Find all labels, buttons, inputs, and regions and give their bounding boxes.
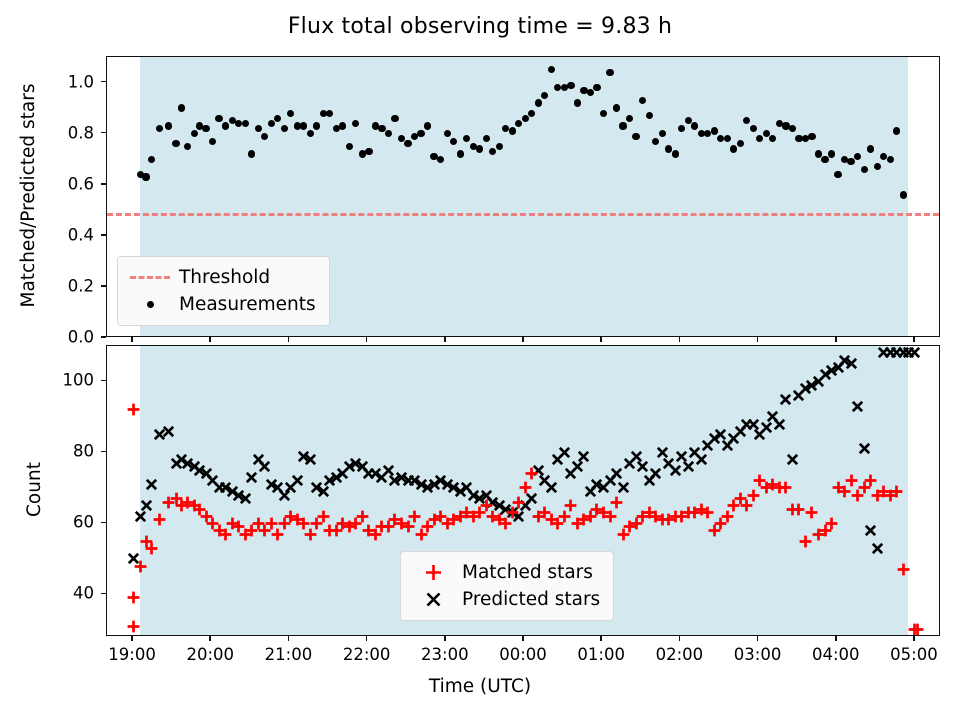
y-tick-label: 0.8 xyxy=(14,123,94,142)
data-point-marker xyxy=(535,99,542,106)
data-point-marker xyxy=(900,191,907,198)
cross-marker xyxy=(773,418,786,431)
cross-marker xyxy=(245,471,258,484)
plus-marker xyxy=(525,467,538,480)
plus-marker xyxy=(145,542,158,555)
data-point-marker xyxy=(834,171,841,178)
data-point-marker xyxy=(509,127,516,134)
plus-marker xyxy=(134,560,147,573)
top-panel-legend: Threshold Measurements xyxy=(117,256,330,326)
legend-label-threshold: Threshold xyxy=(173,267,270,288)
legend-label-predicted-stars: Predicted stars xyxy=(456,589,600,610)
cross-marker xyxy=(577,450,590,463)
x-tick-mark xyxy=(209,337,211,342)
cross-marker xyxy=(779,393,792,406)
data-point-marker xyxy=(261,133,268,140)
cross-marker xyxy=(558,446,571,459)
data-point-marker xyxy=(600,110,607,117)
data-point-marker xyxy=(417,130,424,137)
x-tick-label: 20:00 xyxy=(186,645,234,664)
data-point-marker xyxy=(711,127,718,134)
plus-marker xyxy=(845,474,858,487)
data-point-marker xyxy=(242,120,249,127)
y-tick-mark xyxy=(101,522,106,524)
cross-marker xyxy=(649,467,662,480)
data-point-marker xyxy=(567,82,574,89)
cross-marker xyxy=(145,478,158,491)
data-point-marker xyxy=(659,130,666,137)
data-point-marker xyxy=(887,156,894,163)
data-point-marker xyxy=(346,143,353,150)
data-point-marker xyxy=(156,125,163,132)
data-point-marker xyxy=(593,84,600,91)
bottom-panel-legend: Matched stars Predicted stars xyxy=(400,551,614,621)
x-tick-mark xyxy=(131,337,133,342)
data-point-marker xyxy=(281,125,288,132)
x-tick-mark xyxy=(288,636,290,641)
dashed-line-key xyxy=(127,268,173,288)
plus-marker-key xyxy=(410,563,456,583)
data-point-marker xyxy=(313,122,320,129)
data-point-marker xyxy=(652,138,659,145)
data-point-marker xyxy=(828,150,835,157)
plus-marker xyxy=(610,496,623,509)
figure-title: Flux total observing time = 9.83 h xyxy=(0,14,960,39)
y-tick-mark xyxy=(101,285,106,287)
data-point-marker xyxy=(606,69,613,76)
data-point-marker xyxy=(867,145,874,152)
data-point-marker xyxy=(424,122,431,129)
plus-marker xyxy=(805,506,818,519)
x-tick-mark xyxy=(835,636,837,641)
data-point-marker xyxy=(821,156,828,163)
cross-marker xyxy=(682,460,695,473)
legend-item-measurements: Measurements xyxy=(127,291,316,318)
x-tick-mark xyxy=(366,337,368,342)
data-point-marker xyxy=(750,125,757,132)
x-tick-label: 05:00 xyxy=(890,645,938,664)
x-tick-mark xyxy=(913,636,915,641)
x-tick-mark xyxy=(913,337,915,342)
dot-marker-key xyxy=(127,295,173,315)
plus-marker xyxy=(799,535,812,548)
plus-marker xyxy=(747,489,760,502)
x-tick-mark xyxy=(522,337,524,342)
cross-marker xyxy=(695,453,708,466)
plus-marker xyxy=(825,517,838,530)
x-tick-label: 02:00 xyxy=(656,645,704,664)
cross-marker xyxy=(871,542,884,555)
data-point-marker xyxy=(444,130,451,137)
plus-marker xyxy=(701,506,714,519)
cross-marker xyxy=(140,499,153,512)
cross-marker xyxy=(851,400,864,413)
plus-marker xyxy=(317,510,330,523)
y-tick-label: 0.4 xyxy=(14,225,94,244)
data-point-marker xyxy=(365,148,372,155)
plus-marker xyxy=(356,510,369,523)
x-axis-label: Time (UTC) xyxy=(0,676,960,697)
data-point-marker xyxy=(730,145,737,152)
y-tick-mark xyxy=(101,380,106,382)
x-tick-mark xyxy=(679,636,681,641)
data-point-marker xyxy=(496,143,503,150)
data-point-marker xyxy=(165,122,172,129)
y-tick-label: 0.6 xyxy=(14,174,94,193)
cross-marker xyxy=(786,453,799,466)
data-point-marker xyxy=(691,122,698,129)
plus-marker xyxy=(512,496,525,509)
data-point-marker xyxy=(861,166,868,173)
y-tick-mark xyxy=(101,132,106,134)
x-tick-label: 19:00 xyxy=(108,645,156,664)
data-point-marker xyxy=(632,133,639,140)
legend-label-measurements: Measurements xyxy=(173,294,316,315)
cross-marker-key xyxy=(410,590,456,610)
y-tick-mark xyxy=(101,336,106,338)
x-tick-mark xyxy=(209,636,211,641)
figure-root: Flux total observing time = 9.83 h Match… xyxy=(0,0,960,720)
data-point-marker xyxy=(626,115,633,122)
data-point-marker xyxy=(209,138,216,145)
data-point-marker xyxy=(391,115,398,122)
y-tick-mark xyxy=(101,593,106,595)
y-tick-mark xyxy=(101,234,106,236)
y-tick-label: 80 xyxy=(14,442,94,461)
plus-marker xyxy=(519,481,532,494)
plus-marker xyxy=(153,513,166,526)
cross-marker xyxy=(669,464,682,477)
plus-marker xyxy=(864,474,877,487)
data-point-marker xyxy=(248,150,255,157)
data-point-marker xyxy=(847,158,854,165)
plus-marker xyxy=(897,563,910,576)
data-point-marker xyxy=(522,115,529,122)
x-tick-label: 22:00 xyxy=(343,645,391,664)
cross-marker xyxy=(162,425,175,438)
data-point-marker xyxy=(893,127,900,134)
plus-marker xyxy=(890,485,903,498)
x-tick-label: 00:00 xyxy=(499,645,547,664)
cross-marker xyxy=(864,524,877,537)
y-tick-mark xyxy=(101,183,106,185)
data-point-marker xyxy=(437,156,444,163)
plus-marker xyxy=(564,499,577,512)
data-point-marker xyxy=(148,156,155,163)
data-point-marker xyxy=(202,125,209,132)
data-point-marker xyxy=(300,122,307,129)
x-tick-mark xyxy=(131,636,133,641)
x-tick-label: 01:00 xyxy=(577,645,625,664)
cross-marker xyxy=(858,442,871,455)
x-tick-label: 04:00 xyxy=(812,645,860,664)
data-point-marker xyxy=(613,104,620,111)
plus-marker xyxy=(911,623,924,636)
data-point-marker xyxy=(255,125,262,132)
plus-marker xyxy=(127,620,140,633)
y-tick-label: 0.2 xyxy=(14,276,94,295)
y-tick-mark xyxy=(101,451,106,453)
x-tick-mark xyxy=(600,636,602,641)
threshold-line xyxy=(107,213,939,216)
data-point-marker xyxy=(222,122,229,129)
x-tick-mark xyxy=(679,337,681,342)
data-point-marker xyxy=(142,173,149,180)
x-tick-label: 03:00 xyxy=(734,645,782,664)
data-point-marker xyxy=(268,120,275,127)
x-tick-mark xyxy=(757,337,759,342)
data-point-marker xyxy=(215,115,222,122)
cross-marker xyxy=(291,474,304,487)
data-point-marker xyxy=(476,145,483,152)
data-point-marker xyxy=(619,122,626,129)
cross-marker xyxy=(908,346,921,359)
data-point-marker xyxy=(808,133,815,140)
data-point-marker xyxy=(672,150,679,157)
cross-marker xyxy=(545,481,558,494)
cross-marker xyxy=(258,460,271,473)
x-tick-mark xyxy=(835,337,837,342)
legend-item-matched-stars: Matched stars xyxy=(410,559,600,586)
y-tick-label: 40 xyxy=(14,584,94,603)
data-point-marker xyxy=(646,112,653,119)
plus-marker xyxy=(127,591,140,604)
plus-marker xyxy=(792,503,805,516)
data-point-marker xyxy=(178,104,185,111)
cross-marker xyxy=(610,467,623,480)
data-point-marker xyxy=(450,138,457,145)
x-tick-label: 23:00 xyxy=(421,645,469,664)
x-tick-label: 21:00 xyxy=(265,645,313,664)
cross-marker xyxy=(239,492,252,505)
data-point-marker xyxy=(307,130,314,137)
cross-marker xyxy=(636,460,649,473)
y-tick-mark xyxy=(101,81,106,83)
plus-marker xyxy=(779,481,792,494)
legend-item-threshold: Threshold xyxy=(127,264,316,291)
y-tick-label: 1.0 xyxy=(14,72,94,91)
cross-marker xyxy=(304,453,317,466)
legend-item-predicted-stars: Predicted stars xyxy=(410,586,600,613)
plus-marker xyxy=(604,510,617,523)
y-tick-label: 60 xyxy=(14,513,94,532)
x-tick-mark xyxy=(444,636,446,641)
x-tick-mark xyxy=(522,636,524,641)
y-tick-label: 100 xyxy=(14,371,94,390)
plus-marker xyxy=(408,510,421,523)
x-tick-mark xyxy=(366,636,368,641)
x-tick-mark xyxy=(600,337,602,342)
x-tick-mark xyxy=(444,337,446,342)
data-point-marker xyxy=(339,122,346,129)
x-tick-mark xyxy=(757,636,759,641)
plus-marker xyxy=(127,403,140,416)
cross-marker xyxy=(617,481,630,494)
data-point-marker xyxy=(574,99,581,106)
cross-marker xyxy=(845,357,858,370)
data-point-marker xyxy=(457,150,464,157)
x-tick-mark xyxy=(288,337,290,342)
legend-label-matched-stars: Matched stars xyxy=(456,562,593,583)
